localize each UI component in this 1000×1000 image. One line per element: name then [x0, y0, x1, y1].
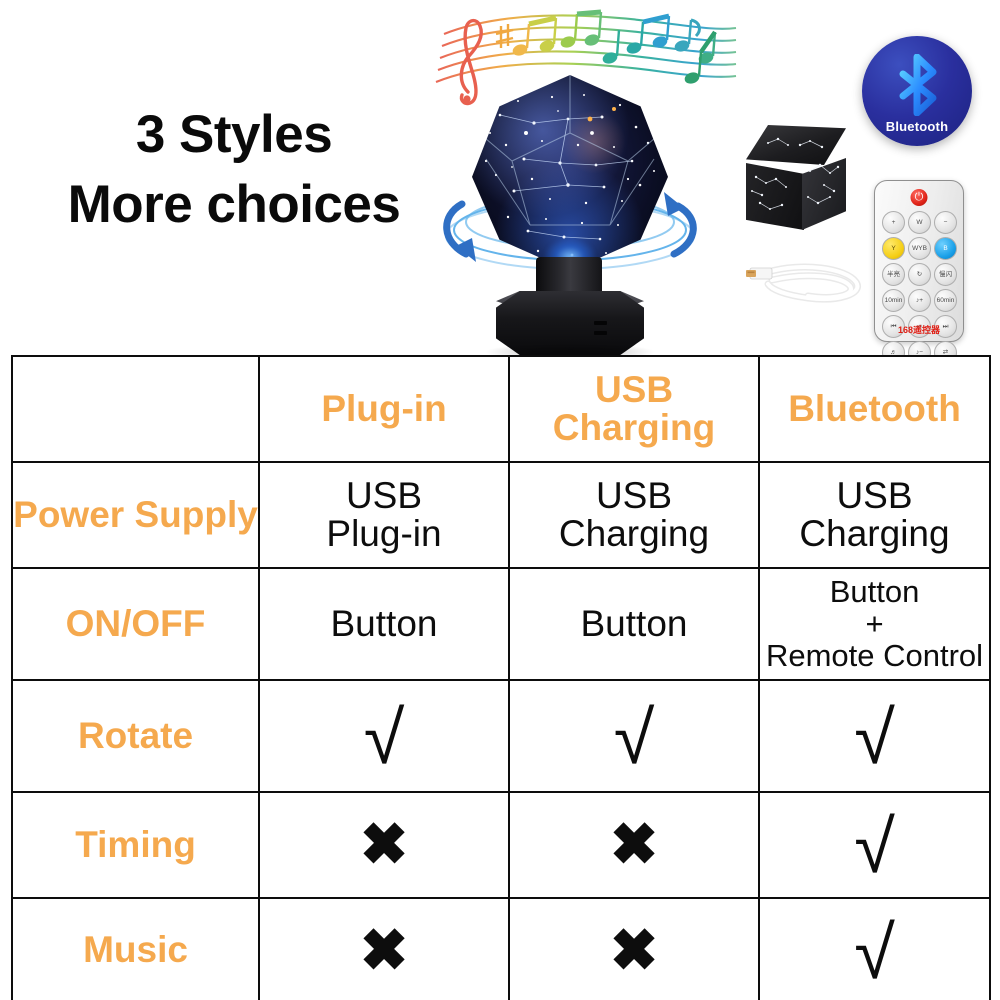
row-header-timing-line-1: Timing: [75, 824, 196, 865]
cell-power-supply-plug-in: USB Plug-in: [259, 462, 509, 568]
cell-on-off-usb-charging: Button: [509, 568, 759, 680]
remote-key-music: ♬: [882, 341, 905, 355]
cell-power-supply-usb-charging: USB Charging: [509, 462, 759, 568]
row-header-power-supply: Power Supply: [12, 462, 259, 568]
cell-text-line: USB: [760, 477, 989, 515]
column-header-usb-charging: USB Charging: [509, 356, 759, 462]
infographic-page: 3 Styles More choices: [0, 0, 1000, 1000]
cell-on-off-plug-in: Button: [259, 568, 509, 680]
cell-rotate-usb-charging: √: [509, 680, 759, 792]
comparison-table: Plug-in USB Charging Bluetooth Power Sup: [11, 355, 991, 1000]
check-icon: √: [364, 701, 405, 775]
cell-text-line: Charging: [510, 515, 758, 553]
remote-key-wyb: WYB: [908, 237, 931, 260]
row-header-music: Music: [12, 898, 259, 1000]
row-header-on-off-line-1: ON/OFF: [66, 603, 206, 644]
cell-timing-usb-charging: ✖: [509, 792, 759, 898]
headline-line-2: More choices: [34, 170, 434, 240]
cell-on-off-bluetooth: Button + Remote Control: [759, 568, 990, 680]
cell-music-bluetooth: √: [759, 898, 990, 1000]
remote-key-blue: B: [934, 237, 957, 260]
remote-key-timer-60: 60min: [934, 289, 957, 312]
hero-section: 3 Styles More choices: [0, 0, 1000, 355]
table-row-timing: Timing ✖ ✖ √: [12, 792, 990, 898]
cell-text-line: Button: [510, 605, 758, 643]
usb-cable: [742, 246, 870, 318]
column-header-plug-in: Plug-in: [259, 356, 509, 462]
column-header-usb-charging-line-2: Charging: [553, 407, 715, 448]
star-projector-lamp: [440, 75, 700, 355]
cell-rotate-bluetooth: √: [759, 680, 990, 792]
remote-key-w: W: [908, 211, 931, 234]
cell-text-line: Plug-in: [260, 515, 508, 553]
bluetooth-badge-label: Bluetooth: [862, 119, 972, 134]
table-row-music: Music ✖ ✖ √: [12, 898, 990, 1000]
bluetooth-badge: Bluetooth: [862, 36, 972, 146]
table-corner-cell: [12, 356, 259, 462]
remote-key-plus: +: [882, 211, 905, 234]
check-icon: √: [614, 701, 655, 775]
cell-text-line: Button: [260, 605, 508, 643]
headline-line-1: 3 Styles: [34, 100, 434, 170]
cell-rotate-plug-in: √: [259, 680, 509, 792]
remote-key-vol-up: ♪+: [908, 289, 931, 312]
cell-timing-plug-in: ✖: [259, 792, 509, 898]
cell-music-usb-charging: ✖: [509, 898, 759, 1000]
table-row-rotate: Rotate √ √ √: [12, 680, 990, 792]
lamp-shadow: [484, 343, 656, 355]
row-header-timing: Timing: [12, 792, 259, 898]
bluetooth-icon: [891, 54, 943, 116]
table-header-row: Plug-in USB Charging Bluetooth: [12, 356, 990, 462]
cell-timing-bluetooth: √: [759, 792, 990, 898]
row-header-power-supply-line-1: Power: [13, 494, 124, 535]
remote-key-repeat: ⇄: [934, 341, 957, 355]
cell-text-line: Button: [760, 576, 989, 608]
remote-key-flash: 慢闪: [934, 263, 957, 286]
cross-icon: ✖: [610, 816, 659, 874]
row-header-music-line-1: Music: [83, 929, 188, 970]
column-header-usb-charging-line-1: USB: [595, 369, 673, 410]
remote-control: ⏻ + W − Y WYB B 半亮 ↻ 慢闪 10min ♪+ 60min ⏮…: [874, 180, 964, 342]
cell-text-line: +: [760, 608, 989, 640]
column-header-bluetooth: Bluetooth: [759, 356, 990, 462]
column-header-bluetooth-line-1: Bluetooth: [788, 388, 961, 429]
remote-key-vol-down: ♪−: [908, 341, 931, 355]
power-switch: [594, 331, 607, 335]
cell-text-line: Remote Control: [760, 640, 989, 672]
remote-key-dim: 半亮: [882, 263, 905, 286]
cell-text-line: Charging: [760, 515, 989, 553]
remote-key-yellow: Y: [882, 237, 905, 260]
remote-key-rotate: ↻: [908, 263, 931, 286]
check-icon: √: [854, 810, 895, 884]
row-header-rotate: Rotate: [12, 680, 259, 792]
cell-text-line: USB: [260, 477, 508, 515]
cell-music-plug-in: ✖: [259, 898, 509, 1000]
table-row-power-supply: Power Supply USB Plug-in USB Charging: [12, 462, 990, 568]
column-header-plug-in-line-1: Plug-in: [321, 388, 446, 429]
power-icon: ⏻: [911, 189, 928, 206]
constellation-gift-box: [738, 125, 854, 237]
remote-key-minus: −: [934, 211, 957, 234]
cross-icon: ✖: [360, 816, 409, 874]
cell-text-line: USB: [510, 477, 758, 515]
check-icon: √: [854, 916, 895, 990]
cell-power-supply-bluetooth: USB Charging: [759, 462, 990, 568]
remote-key-timer-10: 10min: [882, 289, 905, 312]
usb-port: [594, 321, 607, 325]
cross-icon: ✖: [360, 922, 409, 980]
check-icon: √: [854, 701, 895, 775]
row-header-rotate-line-1: Rotate: [78, 715, 193, 756]
table-row-on-off: ON/OFF Button Button Button + Remote Con…: [12, 568, 990, 680]
row-header-on-off: ON/OFF: [12, 568, 259, 680]
row-header-power-supply-line-2: Supply: [134, 494, 257, 535]
box-constellation-print: [738, 125, 854, 237]
page-headline: 3 Styles More choices: [34, 100, 434, 240]
cross-icon: ✖: [610, 922, 659, 980]
remote-model-label: 168遥控器: [875, 323, 963, 336]
